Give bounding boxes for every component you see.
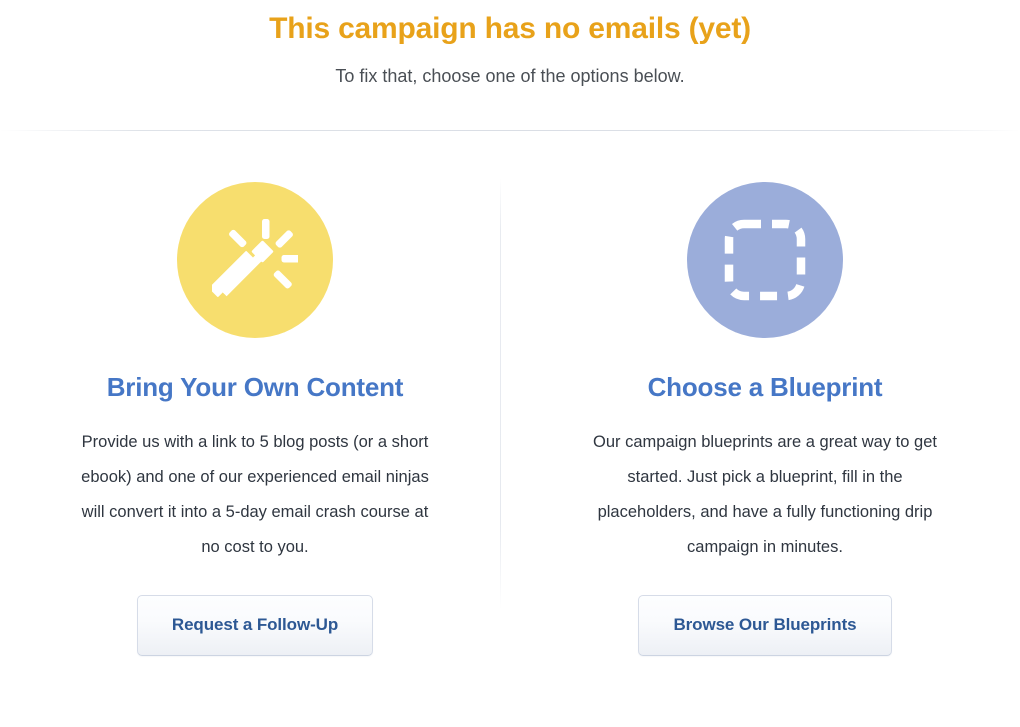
option-title: Choose a Blueprint bbox=[648, 371, 883, 403]
option-card-bring-your-own-content: Bring Your Own Content Provide us with a… bbox=[0, 131, 510, 727]
option-title: Bring Your Own Content bbox=[107, 371, 404, 403]
magic-wand-icon-badge bbox=[177, 182, 333, 338]
page-subtitle: To fix that, choose one of the options b… bbox=[0, 64, 1020, 88]
magic-wand-icon bbox=[212, 217, 298, 303]
option-description: Provide us with a link to 5 blog posts (… bbox=[79, 425, 431, 565]
option-action: Browse Our Blueprints bbox=[638, 595, 891, 656]
options-row: Bring Your Own Content Provide us with a… bbox=[0, 131, 1020, 727]
option-description: Our campaign blueprints are a great way … bbox=[589, 425, 941, 565]
browse-our-blueprints-button[interactable]: Browse Our Blueprints bbox=[638, 595, 891, 656]
page-header: This campaign has no emails (yet) To fix… bbox=[0, 0, 1020, 88]
option-action: Request a Follow-Up bbox=[137, 595, 373, 656]
dashed-placeholder-square-icon bbox=[722, 217, 808, 303]
empty-state-page: This campaign has no emails (yet) To fix… bbox=[0, 0, 1020, 727]
blueprint-icon-badge bbox=[687, 182, 843, 338]
option-card-choose-a-blueprint: Choose a Blueprint Our campaign blueprin… bbox=[510, 131, 1020, 727]
request-a-follow-up-button[interactable]: Request a Follow-Up bbox=[137, 595, 373, 656]
page-title: This campaign has no emails (yet) bbox=[0, 6, 1020, 52]
